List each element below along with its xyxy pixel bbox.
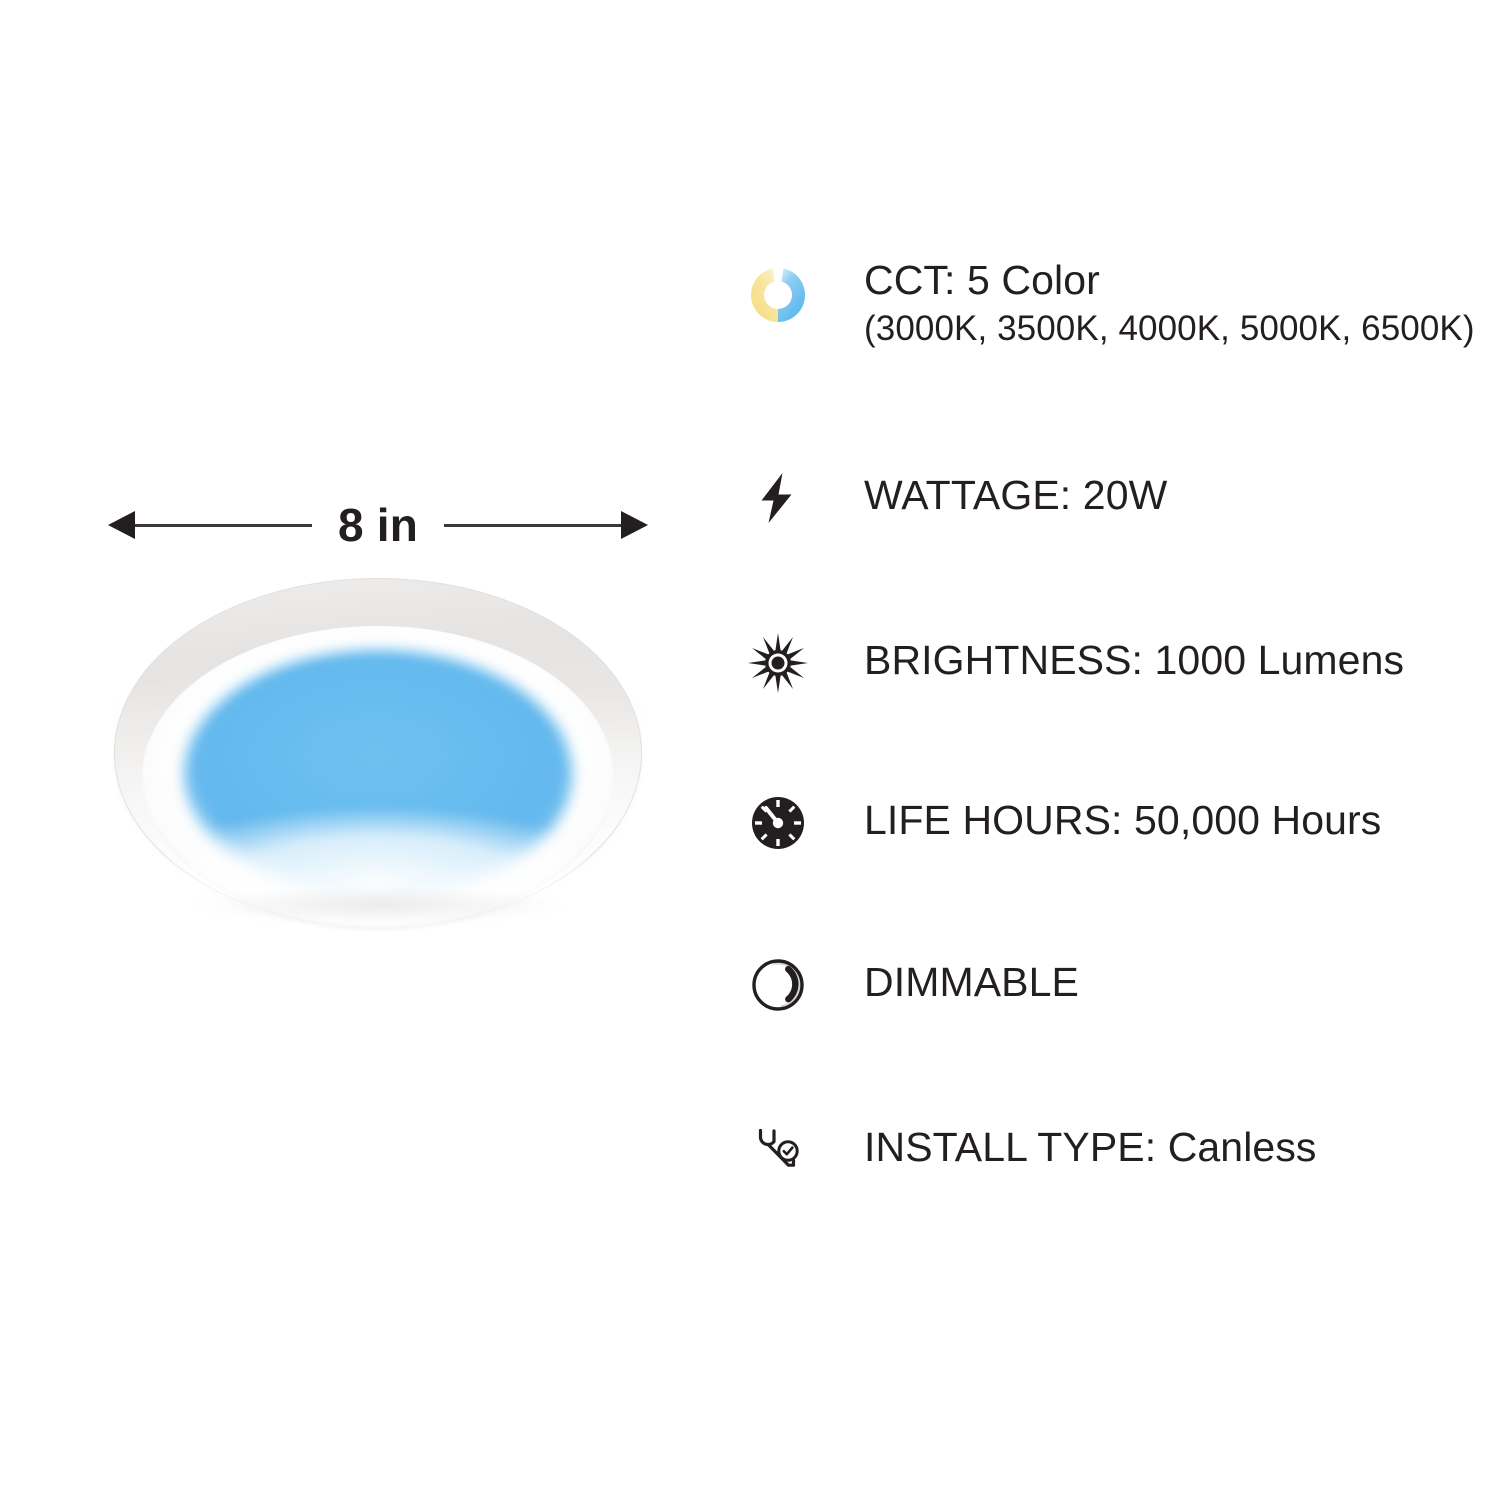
spec-row-cct: CCT: 5 Color (3000K, 3500K, 4000K, 5000K… (745, 262, 1465, 351)
spec-text-brightness: BRIGHTNESS: 1000 Lumens (864, 638, 1465, 684)
clock-dial-icon (745, 790, 811, 856)
spec-row-dimmable: DIMMABLE (745, 952, 1465, 1018)
sun-burst-icon (745, 630, 811, 696)
spec-row-life-hours: LIFE HOURS: 50,000 Hours (745, 790, 1465, 856)
cct-ring-icon (745, 262, 811, 328)
dimension-rule-right (444, 524, 621, 527)
spec-title-dimmable: DIMMABLE (864, 960, 1465, 1006)
spec-title-life-hours: LIFE HOURS: 50,000 Hours (864, 798, 1465, 844)
fixture-base-shadow (170, 886, 588, 934)
spec-subtitle-cct: (3000K, 3500K, 4000K, 5000K, 6500K) (864, 308, 1475, 351)
product-image-panel: 8 in (0, 0, 720, 1500)
spec-text-install-type: INSTALL TYPE: Canless (864, 1125, 1465, 1171)
wrench-check-icon (745, 1117, 811, 1183)
spec-title-wattage: WATTAGE: 20W (864, 473, 1465, 519)
spec-row-wattage: WATTAGE: 20W (745, 465, 1465, 531)
spec-text-dimmable: DIMMABLE (864, 960, 1465, 1006)
spec-text-cct: CCT: 5 Color (3000K, 3500K, 4000K, 5000K… (864, 258, 1475, 351)
dimension-rule-left (135, 524, 312, 527)
spec-title-cct: CCT: 5 Color (864, 258, 1475, 304)
product-spec-sheet: 8 in (0, 0, 1500, 1500)
dimension-left-segment (108, 513, 312, 537)
ceiling-light-fixture (108, 568, 648, 958)
arrow-right-icon (621, 511, 648, 539)
lightning-bolt-icon (745, 465, 811, 531)
spec-row-brightness: BRIGHTNESS: 1000 Lumens (745, 630, 1465, 696)
dimension-label: 8 in (312, 502, 444, 548)
arrow-left-icon (108, 511, 135, 539)
spec-title-brightness: BRIGHTNESS: 1000 Lumens (864, 638, 1465, 684)
dimension-indicator: 8 in (108, 495, 648, 555)
spec-text-life-hours: LIFE HOURS: 50,000 Hours (864, 798, 1465, 844)
spec-text-wattage: WATTAGE: 20W (864, 473, 1465, 519)
dimension-right-segment (444, 513, 648, 537)
spec-title-install-type: INSTALL TYPE: Canless (864, 1125, 1465, 1171)
spec-row-install-type: INSTALL TYPE: Canless (745, 1117, 1465, 1183)
dimmer-ring-icon (745, 952, 811, 1018)
